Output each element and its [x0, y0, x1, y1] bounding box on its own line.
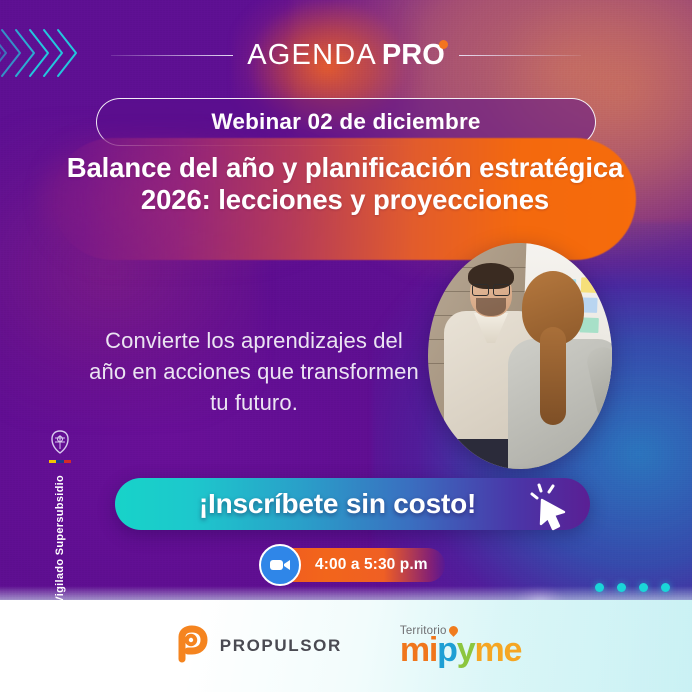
- page-title: Balance del año y planificación estratég…: [60, 152, 630, 216]
- propulsor-p-icon: [171, 625, 209, 668]
- footer-logos: PROPULSOR Territorio mi p y me: [0, 600, 692, 692]
- colombia-flag-bar-icon: [49, 460, 71, 463]
- dot-4: [661, 583, 670, 592]
- register-cta-label: ¡Inscríbete sin costo!: [115, 488, 590, 520]
- dot-1: [595, 583, 604, 592]
- background-footer-fade: [0, 586, 692, 600]
- register-cta-button[interactable]: ¡Inscríbete sin costo!: [115, 478, 590, 530]
- propulsor-label: PROPULSOR: [220, 636, 342, 656]
- mipyme-p: p: [437, 633, 457, 667]
- mipyme-me: me: [474, 633, 521, 667]
- vigilado-label: Vigilado Supersubsidio: [54, 475, 66, 604]
- woman-ponytail: [540, 327, 566, 425]
- propulsor-logo: PROPULSOR: [171, 625, 342, 668]
- brand-accent-dot-icon: [439, 40, 448, 49]
- header-divider-left: [111, 55, 233, 56]
- time-badge: 4:00 a 5:30 p.m: [265, 548, 445, 582]
- mipyme-y: y: [457, 633, 475, 667]
- body-copy: Convierte los aprendizajes del año en ac…: [86, 325, 422, 419]
- colombia-coat-of-arms-icon: [49, 430, 71, 454]
- brand-agenda-text: AGENDA: [247, 39, 377, 72]
- decorative-dots: [595, 583, 670, 592]
- dot-3: [639, 583, 648, 592]
- glasses-icon: [472, 284, 510, 294]
- vigilado-supersubsidio: Vigilado Supersubsidio: [42, 430, 78, 604]
- webinar-poster: AGENDA PRO Webinar 02 de diciembre Balan…: [0, 0, 692, 692]
- cursor-click-icon: [530, 482, 578, 534]
- time-label: 4:00 a 5:30 p.m: [315, 556, 428, 574]
- people-photo: [428, 243, 612, 469]
- mipyme-logo: Territorio mi p y me: [400, 625, 521, 667]
- video-camera-icon: [259, 544, 301, 586]
- mipyme-wordmark: mi p y me: [400, 633, 521, 667]
- header-divider-right: [459, 55, 581, 56]
- header-brand-row: AGENDA PRO: [0, 36, 692, 74]
- dot-2: [617, 583, 626, 592]
- agendapro-logo: AGENDA PRO: [247, 39, 445, 72]
- man-beard: [476, 298, 506, 316]
- photo-scene: [428, 243, 612, 469]
- mipyme-mi: mi: [400, 633, 437, 667]
- brand-pro-text: PRO: [382, 39, 445, 72]
